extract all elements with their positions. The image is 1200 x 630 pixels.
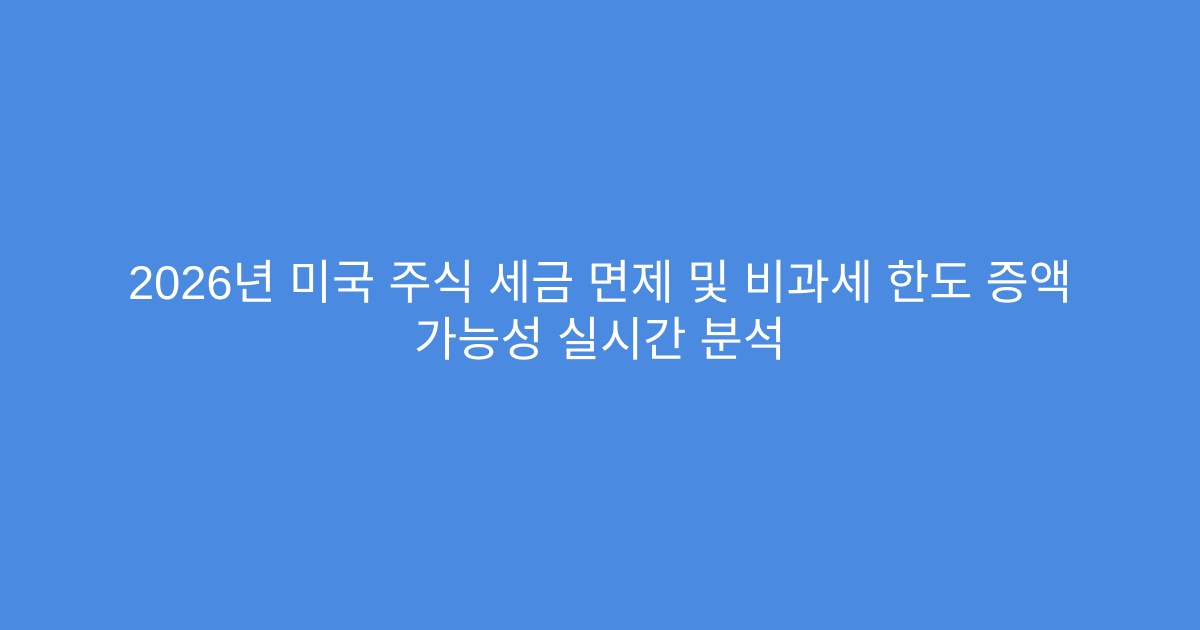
page-title: 2026년 미국 주식 세금 면제 및 비과세 한도 증액 가능성 실시간 분석	[70, 254, 1130, 368]
og-card-canvas: 2026년 미국 주식 세금 면제 및 비과세 한도 증액 가능성 실시간 분석	[0, 0, 1200, 630]
card-content: 2026년 미국 주식 세금 면제 및 비과세 한도 증액 가능성 실시간 분석	[0, 254, 1200, 368]
